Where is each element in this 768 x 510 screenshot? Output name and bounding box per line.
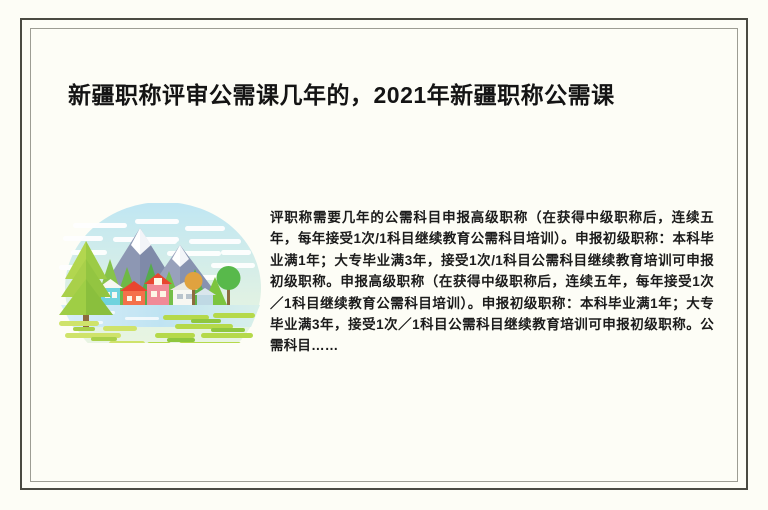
- illustration-sky: [57, 202, 261, 368]
- article-body-text: 评职称需要几年的公需科目申报高级职称（在获得中级职称后，连续五年，每年接受1次/…: [270, 207, 714, 357]
- article-page: 新疆职称评审公需课几年的，2021年新疆职称公需课: [0, 0, 768, 510]
- article-content: 评职称需要几年的公需科目申报高级职称（在获得中级职称后，连续五年，每年接受1次/…: [40, 185, 730, 455]
- mountain-village-illustration-image: [55, 193, 270, 368]
- page-title: 新疆职称评审公需课几年的，2021年新疆职称公需课: [68, 78, 708, 112]
